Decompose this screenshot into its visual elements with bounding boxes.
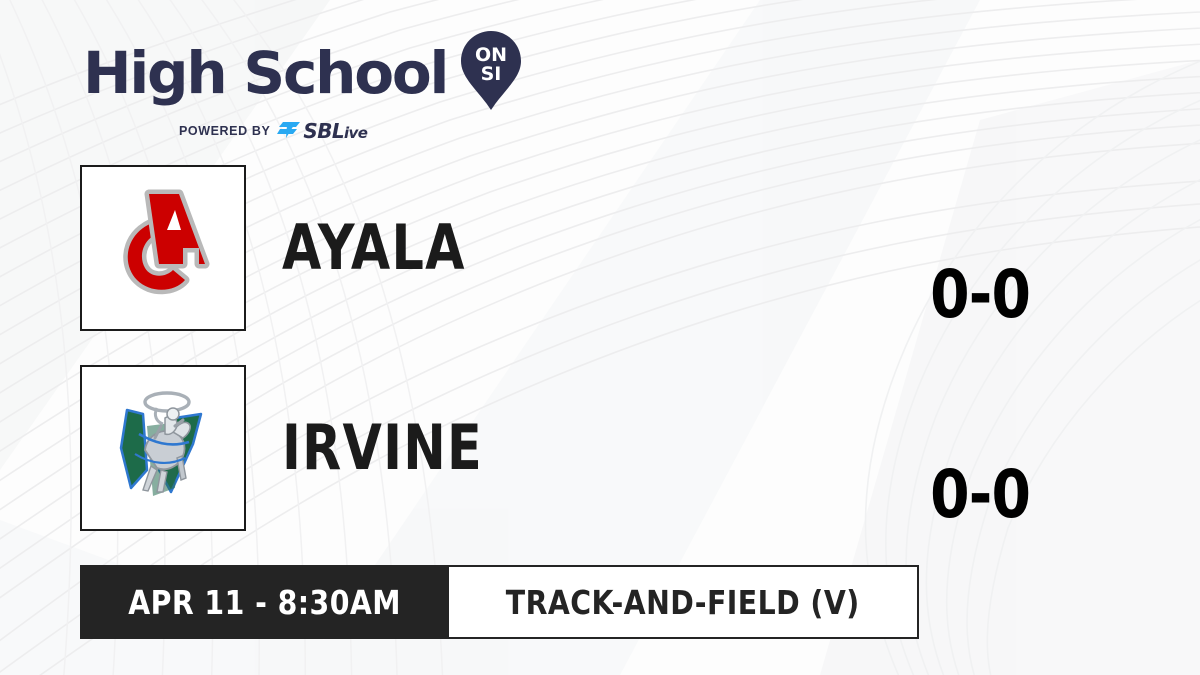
team-row: AYALA <box>80 165 506 331</box>
team-record-score: 0-0 <box>930 262 1030 328</box>
team-record-score: 0-0 <box>930 462 1030 528</box>
brand-title: High School <box>83 44 447 102</box>
brand-header: High School ON SI POWERED BY SBLive <box>83 33 521 143</box>
game-info-bar: APR 11 - 8:30AM TRACK-AND-FIELD (V) <box>80 565 919 639</box>
powered-by-label: POWERED BY <box>179 124 270 138</box>
irvine-vaquero-icon <box>93 378 233 518</box>
brand-wordmark: High School ON SI <box>83 33 521 113</box>
ayala-ac-monogram-icon <box>93 178 233 318</box>
sblive-main: SBL <box>303 119 344 143</box>
game-datetime: APR 11 - 8:30AM <box>128 583 401 622</box>
powered-by-lockup: POWERED BY SBLive <box>83 119 521 143</box>
team-row: IRVINE <box>80 365 527 531</box>
sblive-suffix: ive <box>344 124 367 142</box>
on-si-pin-icon: ON SI <box>461 31 521 113</box>
sblive-logo: SBLive <box>277 119 367 143</box>
sblive-bolt-icon <box>277 121 301 141</box>
ayala-team-logo <box>80 165 246 331</box>
pin-text-si: SI <box>481 63 502 85</box>
game-datetime-block: APR 11 - 8:30AM <box>80 565 449 639</box>
sblive-wordmark: SBLive <box>303 119 367 143</box>
scoreboard-graphic: High School ON SI POWERED BY SBLive <box>0 0 1200 675</box>
team-name: IRVINE <box>282 417 483 479</box>
game-sport-block: TRACK-AND-FIELD (V) <box>449 565 918 639</box>
game-sport: TRACK-AND-FIELD (V) <box>506 583 860 622</box>
irvine-team-logo <box>80 365 246 531</box>
team-name: AYALA <box>282 217 466 279</box>
